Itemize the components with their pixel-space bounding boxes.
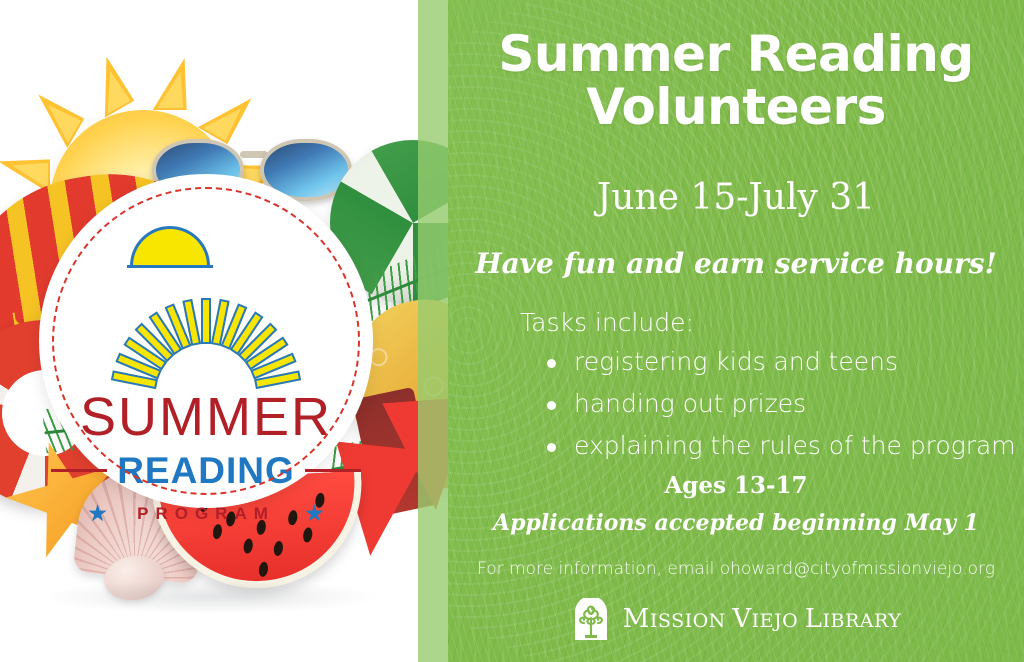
application-note: Applications accepted beginning May 1 <box>472 512 1000 534</box>
sunrise-ray <box>182 299 201 346</box>
ground-shadow <box>40 580 380 614</box>
watermelon-seed <box>302 527 313 543</box>
sun-ray <box>92 48 135 117</box>
sunrise-ray <box>211 299 230 346</box>
sunrise-ray <box>221 303 248 349</box>
watermelon-seed <box>212 524 223 540</box>
badge-rule-left <box>51 469 107 472</box>
badge-line-summer: SUMMER <box>39 390 373 444</box>
sunrise-ray <box>201 298 211 344</box>
poster: SUMMER READING PROGRAM Summer Reading Vo… <box>0 0 1024 662</box>
sunrise-ray <box>250 353 296 380</box>
page-title-line2: Volunteers <box>472 81 1000 134</box>
sunrise-ray <box>115 353 161 380</box>
library-logo: MISSION VIEJO LIBRARY <box>448 598 1024 640</box>
badge-line-program: PROGRAM <box>137 505 275 522</box>
sun-ray <box>153 58 202 110</box>
page-title: Summer Reading Volunteers <box>472 28 1000 134</box>
sunrise-ray <box>123 337 167 371</box>
sunrise-ray <box>149 311 183 355</box>
program-dates: June 15-July 31 <box>472 180 1000 216</box>
sunrise-ray <box>245 337 289 371</box>
sunrise-dome <box>130 226 210 266</box>
star-icon <box>305 504 324 523</box>
age-requirement: Ages 13-17 <box>472 474 1000 497</box>
badge-line-reading: READING <box>117 452 295 489</box>
panel-divider-band <box>418 0 448 662</box>
page-title-line1: Summer Reading <box>472 28 1000 81</box>
badge-rule-right <box>305 469 361 472</box>
summer-reading-program-badge: SUMMER READING PROGRAM <box>39 174 373 508</box>
sunrise-ray <box>165 303 192 349</box>
list-item: explaining the rules of the program <box>544 432 1016 460</box>
star-icon <box>88 504 107 523</box>
tree-arch-icon <box>571 598 611 640</box>
library-name: MISSION VIEJO LIBRARY <box>623 606 902 632</box>
badge-line-reading-row: READING <box>39 452 373 489</box>
watermelon-seed <box>273 540 284 556</box>
contact-info: For more information, email ohoward@city… <box>472 561 1000 578</box>
sunrise-ray <box>230 311 264 355</box>
green-content-panel: Summer Reading Volunteers June 15-July 3… <box>448 0 1024 662</box>
tagline: Have fun and earn service hours! <box>472 250 1000 278</box>
badge-line-program-row: PROGRAM <box>39 504 373 523</box>
tasks-label: Tasks include: <box>520 310 694 335</box>
watermelon-seed <box>258 561 269 577</box>
sunrise-ray <box>135 323 175 363</box>
sunrise-ray <box>254 370 301 389</box>
list-item: registering kids and teens <box>544 348 1016 376</box>
list-item: handing out prizes <box>544 390 1016 418</box>
tasks-list: registering kids and teens handing out p… <box>544 348 1016 474</box>
sunrise-ray <box>238 323 278 363</box>
watermelon-seed <box>243 538 254 554</box>
sunrise-baseline <box>127 265 213 268</box>
sunrise-ray <box>111 370 158 389</box>
